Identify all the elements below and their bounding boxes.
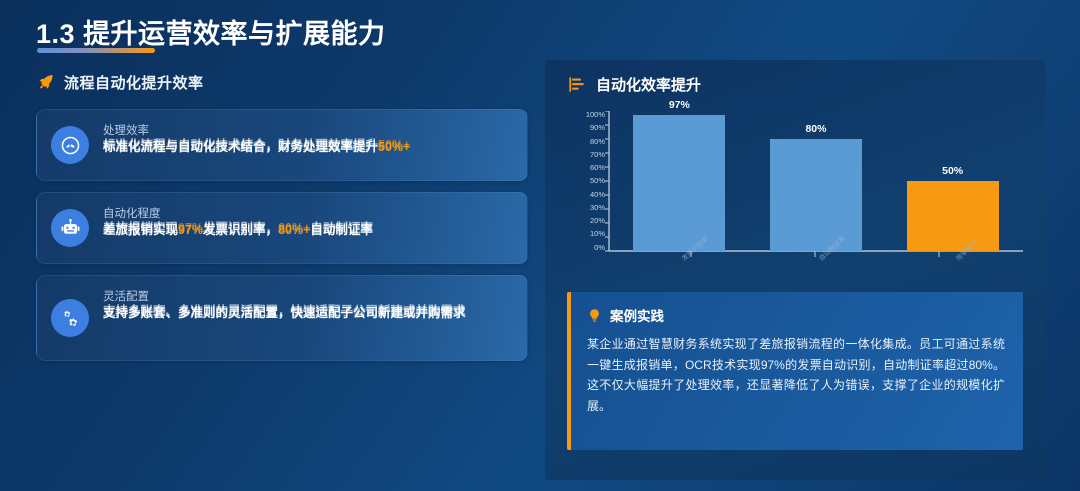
- bar-chart-icon: [567, 75, 586, 94]
- page-title: 1.3 提升运营效率与扩展能力: [36, 12, 386, 51]
- card-desc-highlight-2: 80%+: [278, 223, 310, 237]
- card-desc-text: 差旅报销实现: [103, 223, 178, 237]
- case-study-header: 案例实践: [587, 305, 1005, 325]
- card-description: 标准化流程与自动化技术结合，财务处理效率提升50%+ 标准化流程与自动化技术结合…: [103, 139, 511, 156]
- chart-y-tick: 80%: [590, 138, 605, 146]
- chart-bar: [907, 181, 999, 251]
- card-desc-text: 支持多账套、多准则的灵活配置，快速适配子公司新建或并购需求: [103, 306, 466, 320]
- robot-icon: [51, 209, 89, 247]
- chart-bar-group: 97%: [633, 111, 725, 251]
- section-header-label: 流程自动化提升效率: [64, 72, 204, 93]
- chart-y-tick: 70%: [590, 151, 605, 159]
- card-label: 灵活配置: [103, 290, 511, 304]
- card-description: 差旅报销实现97%发票识别率，80%+自动制证率 差旅报销实现97%发票识别率，…: [103, 222, 511, 239]
- chart-y-tick: 0%: [594, 244, 605, 252]
- gears-icon: [51, 299, 89, 337]
- chart-y-tick: 60%: [590, 164, 605, 172]
- card-desc-highlight: 97%: [178, 223, 203, 237]
- chart-bar-value-label: 50%: [907, 165, 999, 177]
- case-study-title: 案例实践: [610, 305, 664, 325]
- card-automation-level[interactable]: 自动化程度 差旅报销实现97%发票识别率，80%+自动制证率 差旅报销实现97%…: [36, 192, 528, 264]
- card-label: 自动化程度: [103, 207, 511, 221]
- right-panel: 自动化效率提升 100%90%80%70%60%50%40%30%20%10%0…: [545, 60, 1045, 480]
- chart-bar-value-label: 80%: [770, 123, 862, 135]
- lightbulb-icon: [587, 308, 602, 323]
- rocket-icon: [36, 73, 55, 92]
- chart-bar-group: 50%: [907, 111, 999, 251]
- chart-y-tick: 90%: [590, 124, 605, 132]
- section-header-process: 流程自动化提升效率: [36, 72, 528, 93]
- chart-y-tick: 40%: [590, 191, 605, 199]
- gauge-icon: [51, 126, 89, 164]
- chart-bar-value-label: 97%: [633, 99, 725, 111]
- chart-x-label-slot: 效率提升: [907, 253, 999, 289]
- card-desc-highlight: 50%+: [378, 140, 410, 154]
- left-column: 流程自动化提升效率 处理效率 标准化流程与自动化技术结合，财务处理效率提升50%…: [36, 72, 528, 372]
- chart-x-axis-labels: 发票识别率自动制证率效率提升: [611, 253, 1021, 289]
- page-title-number: 1.3: [36, 19, 75, 49]
- chart-bar: [770, 139, 862, 251]
- chart-y-tick: 20%: [590, 217, 605, 225]
- chart-x-label-slot: 自动制证率: [770, 253, 862, 289]
- chart-y-tick: 50%: [590, 177, 605, 185]
- chart-x-label-slot: 发票识别率: [633, 253, 725, 289]
- page-title-text: 提升运营效率与扩展能力: [83, 19, 386, 49]
- chart-y-tick: 10%: [590, 230, 605, 238]
- bar-chart: 100%90%80%70%60%50%40%30%20%10%0% 97%80%…: [559, 111, 1029, 271]
- chart-bar-group: 80%: [770, 111, 862, 251]
- title-underline: [37, 48, 155, 53]
- card-processing-efficiency[interactable]: 处理效率 标准化流程与自动化技术结合，财务处理效率提升50%+ 标准化流程与自动…: [36, 109, 528, 181]
- chart-y-tick: 30%: [590, 204, 605, 212]
- card-flexible-configuration[interactable]: 灵活配置 支持多账套、多准则的灵活配置，快速适配子公司新建或并购需求 支持多账套…: [36, 275, 528, 361]
- case-study-body: 某企业通过智慧财务系统实现了差旅报销流程的一体化集成。员工可通过系统一键生成报销…: [587, 334, 1005, 417]
- card-desc-post: 自动制证率: [310, 223, 373, 237]
- chart-header-label: 自动化效率提升: [596, 74, 701, 95]
- chart-bar: [633, 115, 725, 251]
- chart-header: 自动化效率提升: [545, 60, 1045, 95]
- chart-y-tick: 100%: [586, 111, 605, 119]
- card-desc-mid: 发票识别率，: [203, 223, 278, 237]
- card-label: 处理效率: [103, 124, 511, 138]
- card-description: 支持多账套、多准则的灵活配置，快速适配子公司新建或并购需求 支持多账套、多准则的…: [103, 305, 511, 322]
- chart-plot-area: 97%80%50%: [611, 111, 1021, 251]
- chart-y-axis: 100%90%80%70%60%50%40%30%20%10%0%: [559, 111, 605, 251]
- case-study-box: 案例实践 某企业通过智慧财务系统实现了差旅报销流程的一体化集成。员工可通过系统一…: [567, 292, 1023, 450]
- card-desc-text: 标准化流程与自动化技术结合，财务处理效率提升: [103, 140, 378, 154]
